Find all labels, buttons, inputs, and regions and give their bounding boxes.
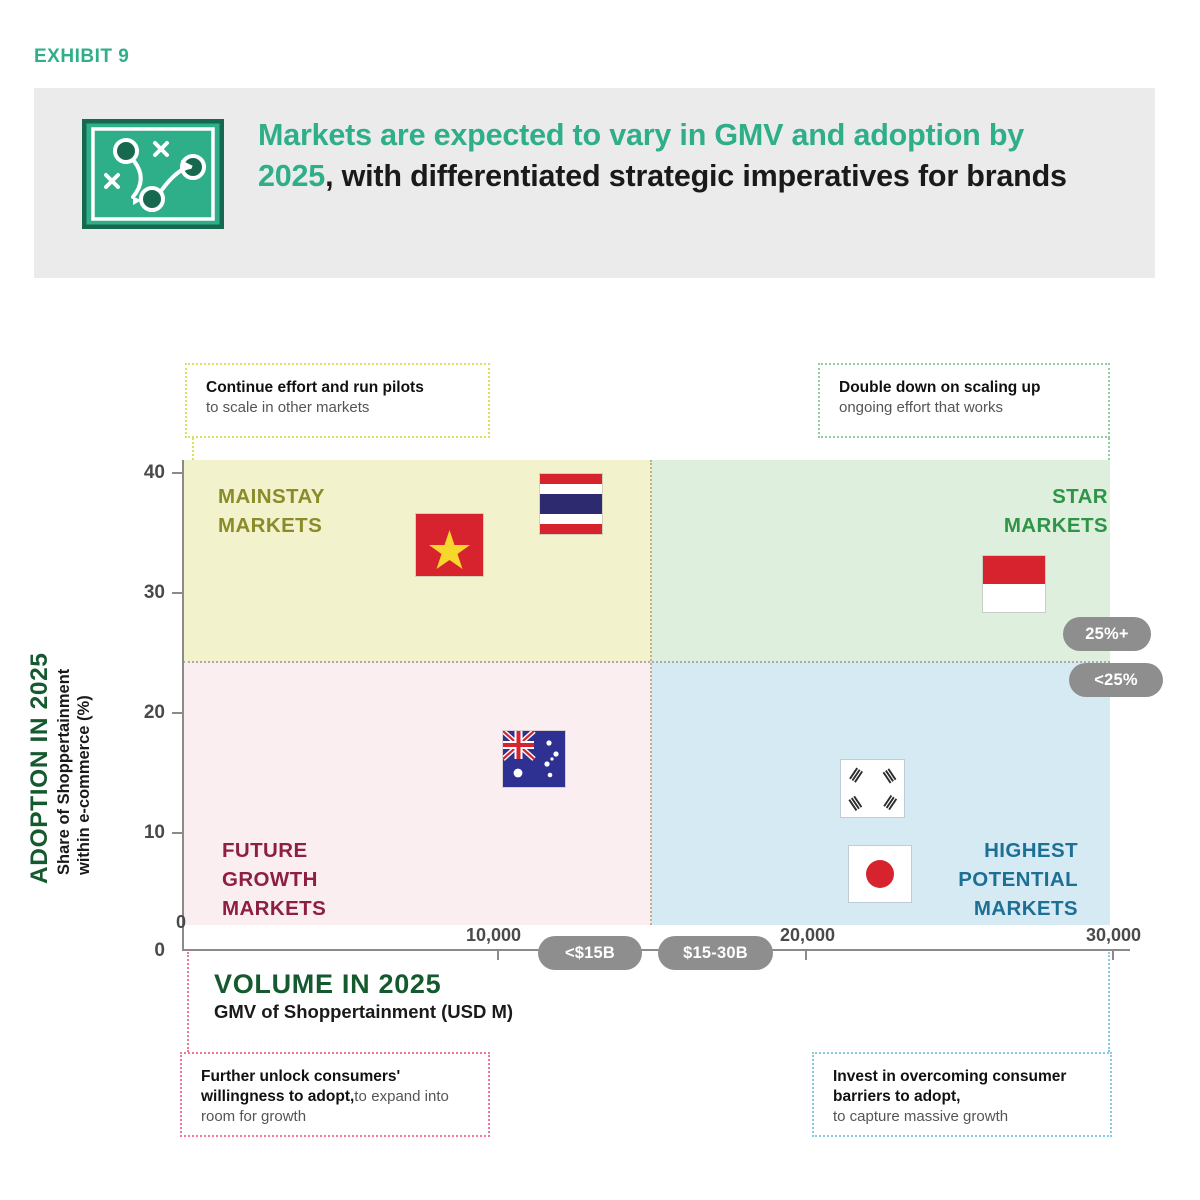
callout-top-left: Continue effort and run pilots to scale … (185, 363, 490, 438)
x-tick-mark-10000 (497, 949, 499, 960)
y-tick-mark-30 (172, 592, 183, 594)
y-tick-mark-10 (172, 832, 183, 834)
marker-south-korea-flag[interactable] (841, 760, 904, 817)
y-axis-title-sub: Share of Shoppertainment within e-commer… (54, 669, 94, 875)
marker-japan-flag[interactable] (849, 846, 911, 902)
quadrant-label-mainstay: MAINSTAY MARKETS (218, 482, 325, 540)
x-tick-label-10000: 10,000 (466, 925, 521, 946)
leader-line-bottom-left (187, 952, 189, 1052)
callout-bottom-left-detail: to (354, 1088, 367, 1105)
callout-top-left-headline: Continue effort and run pilots (206, 378, 473, 398)
x-axis-title-main: VOLUME IN 2025 (214, 968, 513, 1000)
quadrant-label-future-growth: FUTURE GROWTH MARKETS (222, 836, 326, 923)
callout-bottom-right-detail: to capture massive growth (833, 1107, 1095, 1127)
badge-adoption-low: <25% (1069, 663, 1163, 697)
x-axis-line (182, 949, 1130, 951)
y-axis-line (182, 460, 184, 950)
quadrant-label-star: STAR MARKETS (968, 482, 1108, 540)
callout-top-left-detail: to scale in other markets (206, 398, 473, 418)
callout-bottom-right: Invest in overcoming consumer barriers t… (812, 1052, 1112, 1137)
y-tick-label-0: 0 (125, 940, 165, 962)
y-tick-mark-20 (172, 712, 183, 714)
callout-top-right: Double down on scaling up ongoing effort… (818, 363, 1110, 438)
callout-bottom-left: Further unlock consumers' willingness to… (180, 1052, 490, 1137)
y-tick-label-40: 40 (125, 462, 165, 484)
callout-top-right-detail: ongoing effort that works (839, 398, 1093, 418)
y-tick-mark-40 (172, 472, 183, 474)
origin-zero-label: 0 (176, 912, 186, 933)
leader-line-top-left (192, 438, 194, 460)
x-tick-label-30000: 30,000 (1086, 925, 1141, 946)
y-axis-title-main: ADOPTION IN 2025 (26, 652, 54, 884)
badge-volume-high: $15-30B (658, 936, 773, 970)
y-tick-label-20: 20 (125, 702, 165, 724)
y-axis-title: ADOPTION IN 2025Share of Shoppertainment… (26, 464, 94, 884)
marker-australia-flag[interactable] (503, 731, 565, 787)
callout-bottom-left-text: Further unlock consumers' willingness to… (201, 1067, 473, 1127)
x-axis-title: VOLUME IN 2025 GMV of Shoppertainment (U… (214, 968, 513, 1024)
quadrant-divider-horizontal (183, 661, 1110, 663)
marker-indonesia-flag[interactable] (983, 556, 1045, 612)
x-axis-title-sub: GMV of Shoppertainment (USD M) (214, 1000, 513, 1024)
leader-line-top-right (1108, 438, 1110, 460)
marker-thailand-flag[interactable] (540, 474, 602, 534)
leader-line-bottom-right (1108, 952, 1110, 1052)
callout-bottom-right-headline: Invest in overcoming consumer barriers t… (833, 1067, 1095, 1107)
quadrant-chart: MAINSTAY MARKETS STAR MARKETS FUTURE GRO… (0, 0, 1200, 1200)
quadrant-label-highest-potential: HIGHEST POTENTIAL MARKETS (900, 836, 1078, 923)
callout-top-right-headline: Double down on scaling up (839, 378, 1093, 398)
badge-volume-low: <$15B (538, 936, 642, 970)
marker-vietnam-flag[interactable] (416, 514, 483, 576)
y-tick-label-30: 30 (125, 582, 165, 604)
y-tick-label-10: 10 (125, 822, 165, 844)
x-tick-label-20000: 20,000 (780, 925, 835, 946)
x-tick-mark-20000 (805, 949, 807, 960)
badge-adoption-high: 25%+ (1063, 617, 1151, 651)
quadrant-divider-vertical (650, 460, 652, 925)
x-tick-mark-30000 (1112, 949, 1114, 960)
